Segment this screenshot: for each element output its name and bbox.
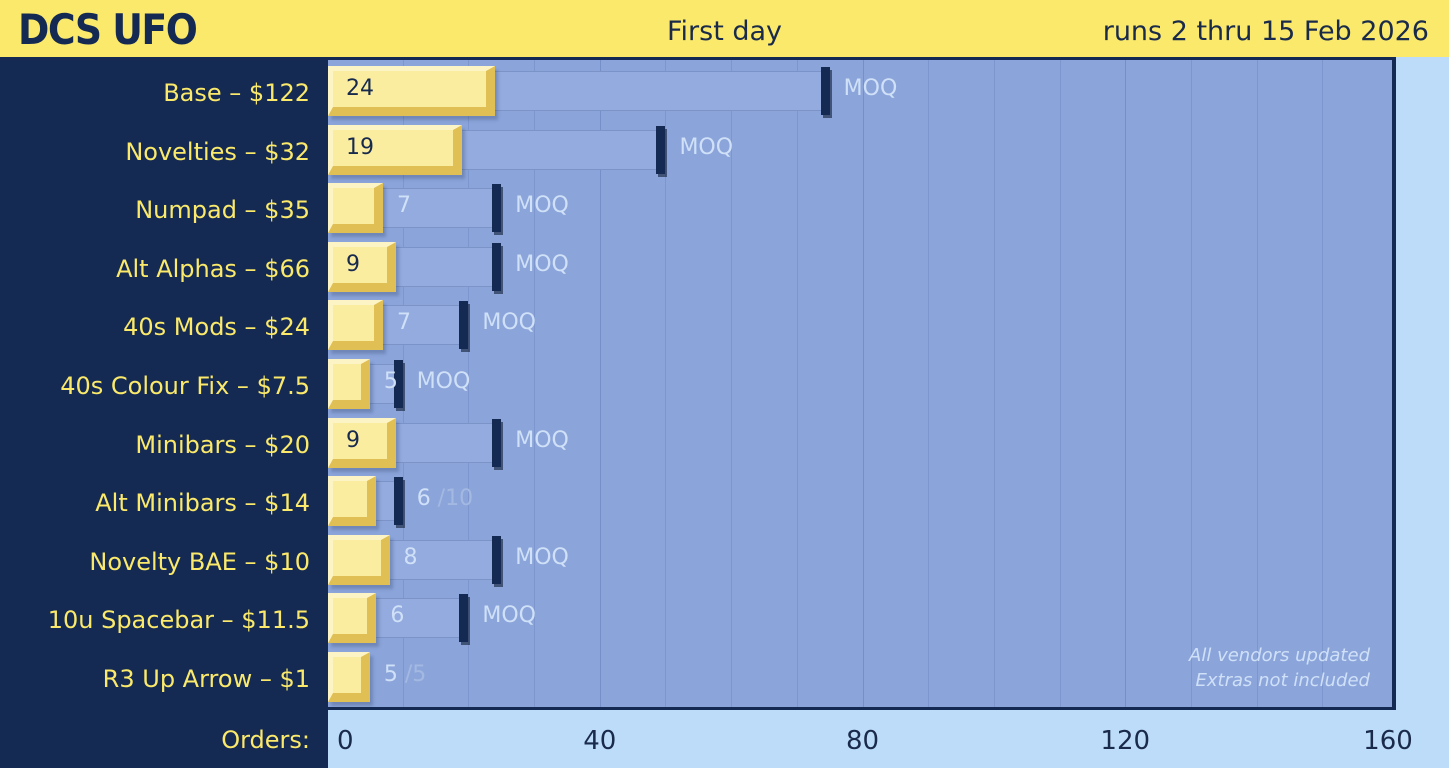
- category-label: Minibars – $20: [0, 433, 310, 457]
- row-caption: MOQ: [482, 603, 536, 628]
- row-caption: MOQ: [515, 252, 569, 277]
- x-tick-label: 160: [1363, 726, 1413, 756]
- row-caption-main: MOQ: [417, 369, 471, 394]
- bar-row[interactable]: 7MOQ: [328, 296, 1392, 354]
- category-label: R3 Up Arrow – $1: [0, 667, 310, 691]
- row-caption: 5 /5: [384, 662, 426, 687]
- category-label-column: Base – $122Novelties – $32Numpad – $35Al…: [0, 57, 328, 768]
- footnote-line-2: Extras not included: [1189, 669, 1370, 693]
- moq-marker: [394, 477, 403, 525]
- x-axis: 04080120160: [328, 710, 1449, 768]
- moq-marker: [492, 184, 501, 232]
- order-bar[interactable]: [328, 476, 376, 526]
- moq-marker: [656, 126, 665, 174]
- category-label: Alt Minibars – $14: [0, 491, 310, 515]
- order-value-label: 8: [404, 545, 418, 570]
- dashboard-root: DCS UFO First day runs 2 thru 15 Feb 202…: [0, 0, 1449, 768]
- order-bar[interactable]: [328, 300, 383, 350]
- row-caption: MOQ: [482, 310, 536, 335]
- category-label: Base – $122: [0, 81, 310, 105]
- moq-marker: [459, 301, 468, 349]
- order-bar[interactable]: [328, 535, 390, 585]
- run-dates: runs 2 thru 15 Feb 2026: [1103, 16, 1429, 47]
- x-tick-label: 40: [583, 726, 616, 756]
- order-bar[interactable]: [328, 359, 370, 409]
- row-caption: MOQ: [417, 369, 471, 394]
- order-value-label: 7: [397, 193, 411, 218]
- order-value-label: 9: [346, 428, 360, 453]
- row-caption-main: MOQ: [515, 545, 569, 570]
- row-caption: MOQ: [679, 135, 733, 160]
- category-label: 40s Colour Fix – $7.5: [0, 374, 310, 398]
- row-caption-main: MOQ: [515, 252, 569, 277]
- category-label: Alt Alphas – $66: [0, 257, 310, 281]
- moq-marker: [492, 419, 501, 467]
- footnote-line-1: All vendors updated: [1189, 644, 1370, 668]
- row-caption: 6 /10: [417, 486, 473, 511]
- order-value-label: 5: [384, 369, 398, 394]
- row-caption-denominator: /10: [431, 486, 473, 511]
- chart-footnote: All vendors updated Extras not included: [1189, 644, 1370, 693]
- order-bar[interactable]: [328, 593, 376, 643]
- x-axis-caption: Orders:: [221, 726, 310, 754]
- row-caption-main: 6: [417, 486, 431, 511]
- bar-row[interactable]: 6 /10: [328, 472, 1392, 530]
- row-caption-main: MOQ: [482, 310, 536, 335]
- order-bar[interactable]: [328, 183, 383, 233]
- chart-plot-area: 24MOQ19MOQ7MOQ9MOQ7MOQ5MOQ9MOQ6 /108MOQ6…: [328, 57, 1396, 710]
- plot-right-padding: [1396, 57, 1449, 710]
- bar-row[interactable]: 7MOQ: [328, 179, 1392, 237]
- order-value-label: 6: [390, 603, 404, 628]
- row-caption-denominator: /5: [398, 662, 426, 687]
- bar-row[interactable]: 6MOQ: [328, 589, 1392, 647]
- row-caption-main: MOQ: [679, 135, 733, 160]
- row-caption: MOQ: [844, 76, 898, 101]
- app-header: DCS UFO First day runs 2 thru 15 Feb 202…: [0, 0, 1449, 57]
- row-caption-main: 5: [384, 662, 398, 687]
- x-tick-label: 0: [337, 726, 354, 756]
- row-caption-main: MOQ: [482, 603, 536, 628]
- bar-row[interactable]: 9MOQ: [328, 238, 1392, 296]
- row-caption-main: MOQ: [515, 428, 569, 453]
- x-tick-label: 80: [846, 726, 879, 756]
- category-label: 40s Mods – $24: [0, 315, 310, 339]
- order-bar[interactable]: [328, 242, 396, 292]
- order-bar[interactable]: [328, 652, 370, 702]
- category-label: Novelty BAE – $10: [0, 550, 310, 574]
- order-bar[interactable]: [328, 418, 396, 468]
- bar-row[interactable]: 9MOQ: [328, 414, 1392, 472]
- moq-marker: [492, 243, 501, 291]
- moq-marker: [459, 594, 468, 642]
- row-caption: MOQ: [515, 428, 569, 453]
- row-caption: MOQ: [515, 193, 569, 218]
- order-value-label: 9: [346, 252, 360, 277]
- order-value-label: 7: [397, 310, 411, 335]
- row-caption-main: MOQ: [844, 76, 898, 101]
- x-tick-label: 120: [1100, 726, 1150, 756]
- order-value-label: 24: [346, 76, 374, 101]
- bar-row[interactable]: 5MOQ: [328, 355, 1392, 413]
- category-label: Novelties – $32: [0, 140, 310, 164]
- row-caption-main: MOQ: [515, 193, 569, 218]
- moq-marker: [821, 67, 830, 115]
- bar-row[interactable]: 24MOQ: [328, 62, 1392, 120]
- order-value-label: 19: [346, 135, 374, 160]
- category-label: Numpad – $35: [0, 198, 310, 222]
- bar-row[interactable]: 19MOQ: [328, 121, 1392, 179]
- moq-marker: [492, 536, 501, 584]
- row-caption: MOQ: [515, 545, 569, 570]
- category-label: 10u Spacebar – $11.5: [0, 608, 310, 632]
- bar-row[interactable]: 8MOQ: [328, 531, 1392, 589]
